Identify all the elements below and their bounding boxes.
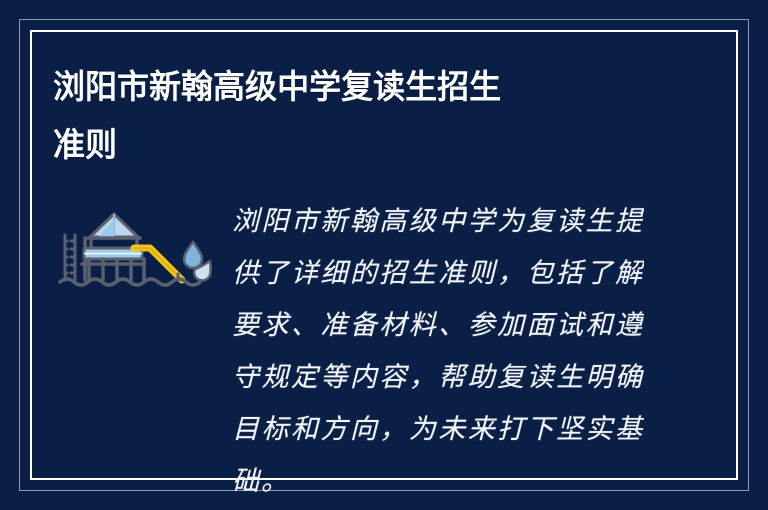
water-line: [60, 279, 200, 285]
page-title-line-1: 浏阳市新翰高级中学复读生招生: [53, 58, 635, 116]
ladder-part: [65, 235, 75, 280]
article-body: 浏阳市新翰高级中学为复读生提供了详细的招生准则，包括了解要求、准备材料、参加面试…: [232, 196, 644, 510]
tower-legs: [89, 259, 144, 280]
playground-water-slide-icon: [58, 208, 213, 294]
tower-roof: [90, 214, 138, 237]
content-row: 浏阳市新翰高级中学为复读生提供了详细的招生准则，包括了解要求、准备材料、参加面试…: [0, 186, 768, 510]
article-card: 浏阳市新翰高级中学复读生招生 准则: [0, 0, 768, 510]
article-body-text: 浏阳市新翰高级中学为复读生提供了详细的招生准则，包括了解要求、准备材料、参加面试…: [232, 196, 644, 508]
water-splash-icon: [184, 242, 211, 280]
page-title: 浏阳市新翰高级中学复读生招生 准则: [53, 58, 653, 174]
page-title-line-2: 准则: [53, 116, 635, 174]
